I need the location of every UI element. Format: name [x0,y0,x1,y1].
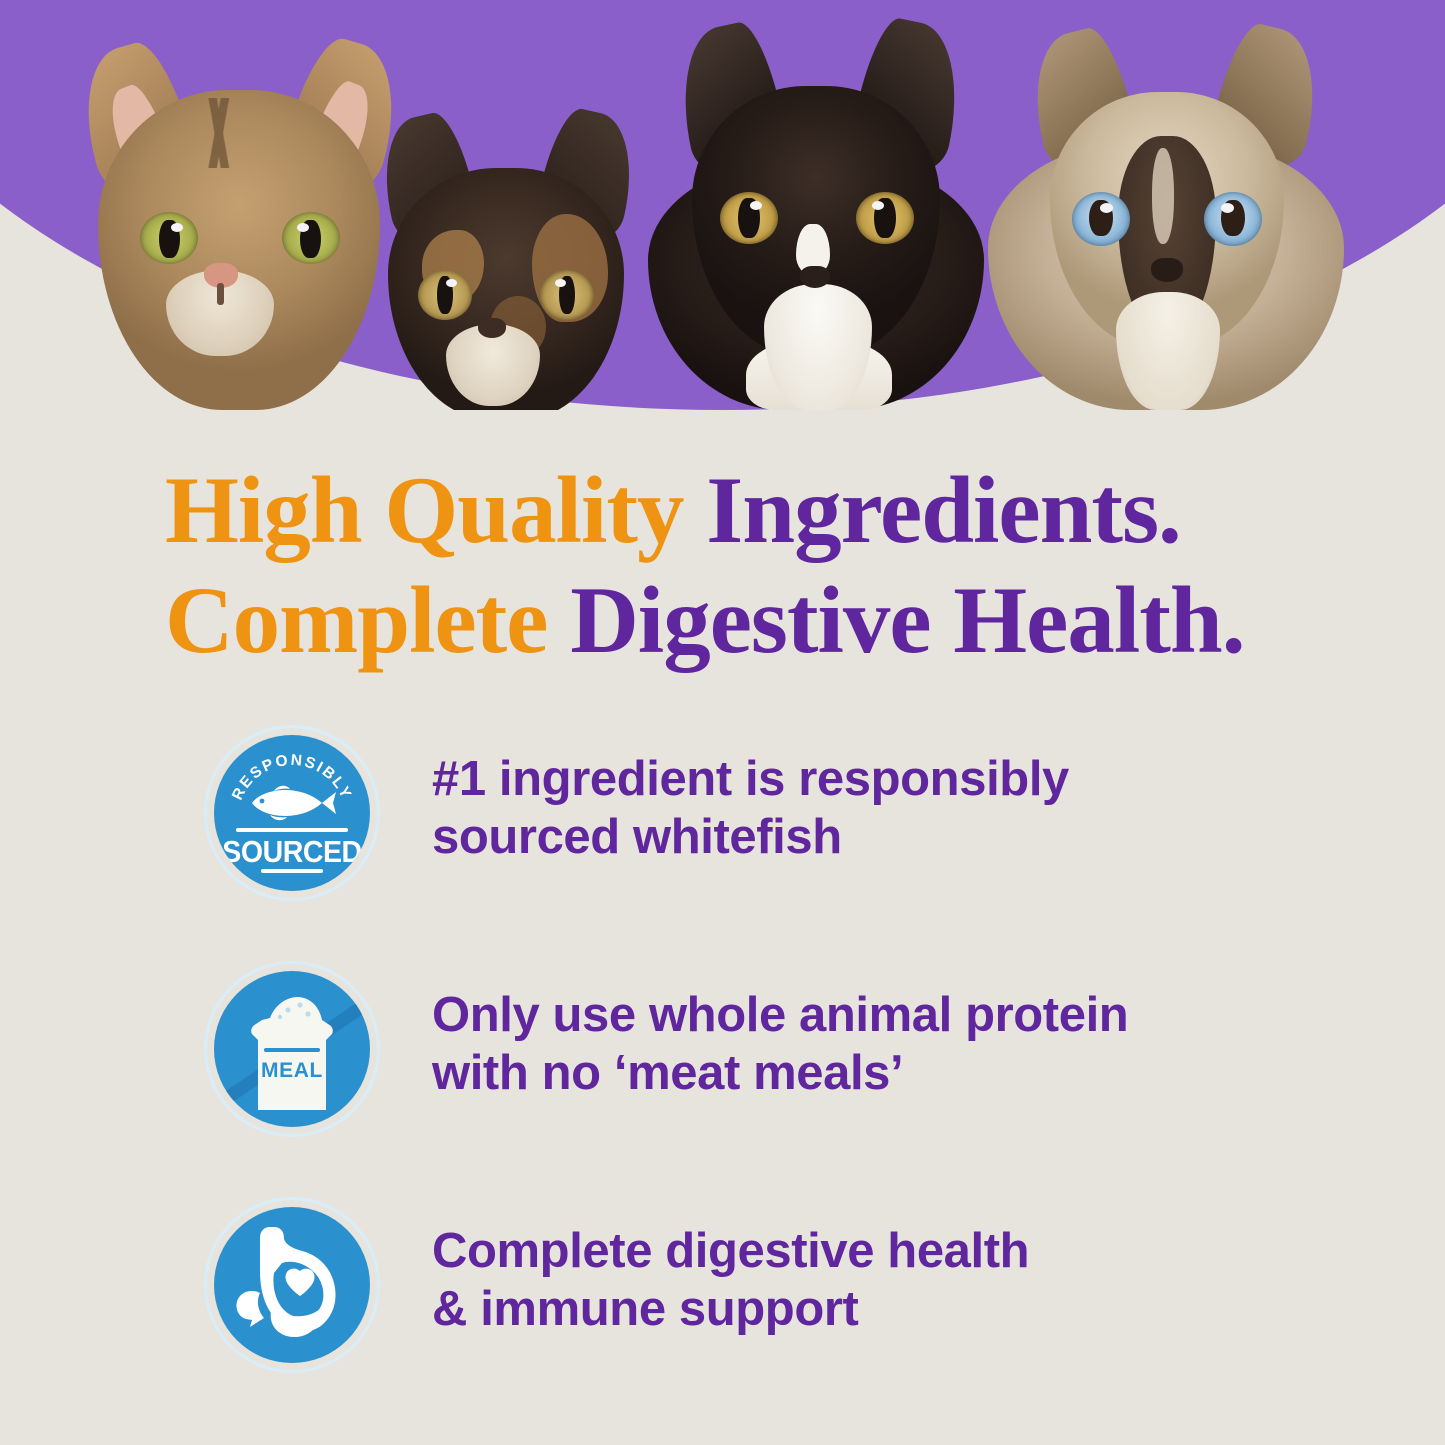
responsibly-sourced-fish-badge: RESPONSIBLY SOURCED [214,735,370,891]
cat-eye-glint-right [1221,203,1234,213]
feature-list: RESPONSIBLY SOURCED #1 ingredient is res… [214,735,1314,1363]
badge-label-sourced: SOURCED [220,834,364,870]
headline-line2-orange: Complete [165,567,570,673]
stomach-heart-icon [230,1219,354,1351]
headline-line-1: High Quality Ingredients. [165,455,1345,565]
cat-nose [1151,258,1183,282]
cat-white-chin [764,284,872,410]
promo-page: High Quality Ingredients. Complete Diges… [0,0,1445,1445]
stomach-heart-badge [214,1207,370,1363]
cat-eye-glint-right [297,223,309,232]
meal-bag-icon [240,988,344,1112]
badge-label-meal: MEAL [214,1059,370,1083]
cat-white-chin [1116,292,1220,410]
hero-banner [0,0,1445,410]
ragdoll-cat [988,10,1344,410]
cat-eye-glint-left [1100,203,1113,213]
cat-eye-glint-left [171,223,183,232]
page-title: High Quality Ingredients. Complete Diges… [165,455,1345,675]
cat-eye-glint-right [555,279,566,287]
cat-nose-blaze [1152,148,1174,244]
headline-line2-purple: Digestive Health. [570,567,1244,673]
no-meat-meal-bag-badge: MEAL [214,971,370,1127]
feature-item-responsibly-sourced: RESPONSIBLY SOURCED #1 ingredient is res… [214,735,1314,891]
cat-nose [800,266,830,288]
cat-nose [478,318,506,338]
tortoiseshell-kitten [360,110,650,410]
fish-icon [240,783,344,823]
feature-text: #1 ingredient is responsibly sourced whi… [432,735,1314,867]
badge-divider-short [261,869,323,873]
cat-eye-glint-right [872,201,884,210]
headline-line1-orange: High Quality [165,457,706,563]
feature-text: Only use whole animal protein with no ‘m… [432,971,1314,1103]
brown-tabby-cat [78,20,398,410]
headline-line1-purple: Ingredients. [706,457,1181,563]
badge-circle: RESPONSIBLY SOURCED [214,735,370,891]
cat-eye-glint-left [750,201,762,210]
badge-circle [214,1207,370,1363]
feature-item-no-meat-meals: MEAL Only use whole animal protein with … [214,971,1314,1127]
cat-eye-glint-left [446,279,457,287]
cat-forehead-stripes [166,98,274,168]
tuxedo-cat [648,10,984,410]
badge-circle: MEAL [214,971,370,1127]
badge-divider-long [236,828,348,832]
feature-text: Complete digestive health & immune suppo… [432,1207,1314,1339]
cat-nose [204,263,238,288]
headline-line-2: Complete Digestive Health. [165,565,1345,675]
feature-item-digestive-health: Complete digestive health & immune suppo… [214,1207,1314,1363]
